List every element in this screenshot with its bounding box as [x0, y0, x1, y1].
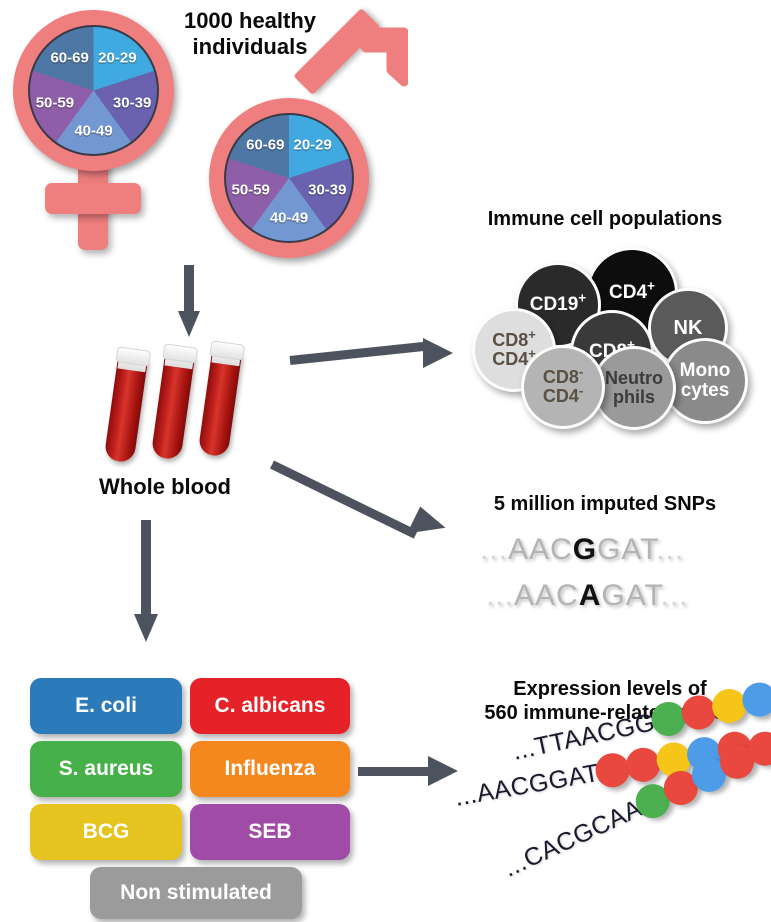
- stimulus-label: Non stimulated: [120, 881, 272, 905]
- pie-label-30-39: 30-39: [308, 182, 346, 199]
- snp-sequence-row: ...AACAGAT...: [486, 579, 689, 613]
- snp-right-bases: GAT: [597, 533, 656, 566]
- stimuli-panel: E. coliC. albicansS. aureusInfluenzaBCGS…: [30, 678, 350, 903]
- stimulus-saureus[interactable]: S. aureus: [30, 741, 182, 797]
- snp-section-title: 5 million imputed SNPs: [455, 493, 755, 517]
- immune-cell-cd8cd4[interactable]: CD8-CD4-: [521, 345, 605, 429]
- blood-tube: [196, 332, 247, 458]
- snp-prefix: ...: [480, 533, 508, 566]
- arrow-blood-to-snps: [272, 450, 457, 560]
- stimulus-label: C. albicans: [215, 694, 326, 718]
- pie-label-40-49: 40-49: [270, 210, 308, 227]
- immune-cell-label: CD4+: [609, 283, 655, 303]
- immune-section-title: Immune cell populations: [450, 208, 760, 232]
- pie-label-50-59: 50-59: [231, 182, 269, 199]
- stimulus-influenza[interactable]: Influenza: [190, 741, 350, 797]
- blood-tube: [149, 335, 200, 461]
- gene-strand-sequence: ...AACGGAT: [452, 758, 601, 812]
- stimulus-seb[interactable]: SEB: [190, 804, 350, 860]
- expression-strand-block: ...TTAACGG...AACGGAT...CACGCAA: [455, 735, 771, 910]
- immune-cell-label: CD19+: [530, 295, 587, 315]
- female-cross-horizontal: [45, 183, 141, 214]
- stimulus-label: Influenza: [224, 757, 315, 781]
- pie-label-20-29: 20-29: [294, 137, 332, 154]
- snp-left-bases: AAC: [514, 579, 579, 612]
- snp-sequence-block: ...AACGGAT......AACAGAT...: [480, 533, 740, 623]
- immune-cell-label: Neutrophils: [605, 369, 663, 406]
- stimulus-label: S. aureus: [59, 757, 154, 781]
- gene-strand-sequence: ...CACGCAA: [499, 794, 647, 883]
- pie-label-50-59: 50-59: [36, 95, 74, 112]
- stimulus-ecoli[interactable]: E. coli: [30, 678, 182, 734]
- arrow-stimuli-to-expression: [358, 755, 468, 789]
- blood-tube: [102, 338, 153, 464]
- stimulus-label: E. coli: [75, 694, 137, 718]
- snp-sequence-row: ...AACGGAT...: [480, 533, 684, 567]
- page-title: 1000 healthy individuals: [160, 8, 340, 60]
- pie-label-20-29: 20-29: [98, 49, 136, 66]
- stimulus-calbicans[interactable]: C. albicans: [190, 678, 350, 734]
- pie-label-60-69: 60-69: [246, 137, 284, 154]
- immune-cell-label: Monocytes: [680, 361, 731, 400]
- immune-cell-label: CD8-CD4-: [543, 368, 583, 405]
- stimulus-label: BCG: [83, 820, 130, 844]
- snp-variant-base: A: [579, 579, 602, 612]
- arrow-blood-to-stimuli: [134, 520, 158, 645]
- arrow-cohort-to-blood: [178, 265, 200, 337]
- stimulus-label: SEB: [248, 820, 291, 844]
- pie-label-40-49: 40-49: [74, 123, 112, 140]
- stimulus-bcg[interactable]: BCG: [30, 804, 182, 860]
- male-arrow-head: [346, 26, 408, 88]
- snp-variant-base: G: [573, 533, 597, 566]
- snp-right-bases: GAT: [601, 579, 660, 612]
- whole-blood-label: Whole blood: [80, 474, 250, 500]
- snp-suffix: ...: [661, 579, 689, 612]
- snp-prefix: ...: [486, 579, 514, 612]
- pie-label-60-69: 60-69: [50, 49, 88, 66]
- snp-left-bases: AAC: [508, 533, 573, 566]
- snp-suffix: ...: [656, 533, 684, 566]
- pie-label-30-39: 30-39: [113, 95, 151, 112]
- stimulus-nonstimulated[interactable]: Non stimulated: [90, 867, 302, 919]
- arrow-blood-to-immune: [290, 330, 465, 370]
- immune-cell-label: NK: [674, 318, 703, 339]
